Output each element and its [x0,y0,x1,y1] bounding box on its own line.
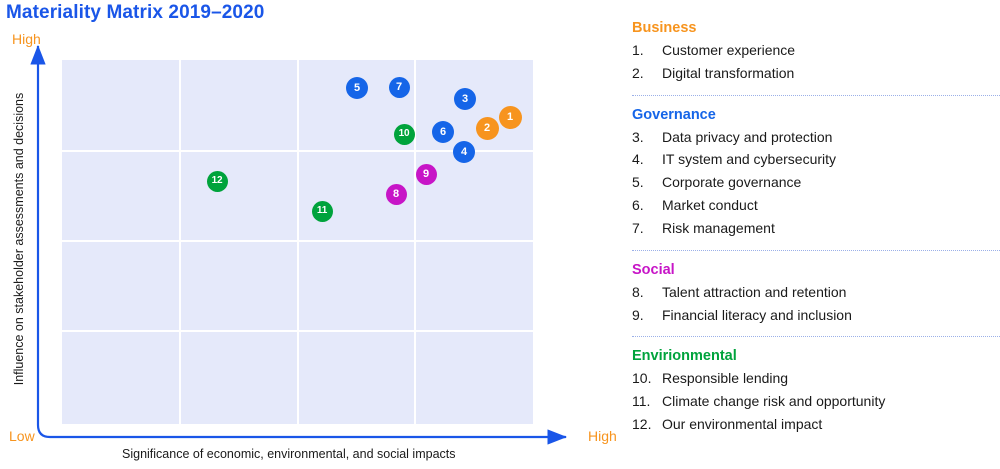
legend-heading-governance: Governance [632,107,1000,123]
legend-heading-social: Social [632,262,1000,278]
legend-item-label: Corporate governance [662,171,801,194]
legend-heading-envirionmental: Envirionmental [632,348,1000,364]
x-axis-title: Significance of economic, environmental,… [122,447,456,461]
y-axis-high-label: High [12,31,41,47]
data-point-4[interactable]: 4 [453,141,475,163]
legend-item-label: Customer experience [662,39,795,62]
legend-item-number: 9. [632,304,662,327]
data-point-10[interactable]: 10 [394,124,415,145]
data-point-7[interactable]: 7 [389,77,410,98]
data-point-3[interactable]: 3 [454,88,476,110]
legend-item-number: 1. [632,39,662,62]
legend-item-number: 8. [632,281,662,304]
data-point-6[interactable]: 6 [432,121,454,143]
legend-item[interactable]: 12.Our environmental impact [632,413,1000,436]
legend-item[interactable]: 6.Market conduct [632,194,1000,217]
legend-group-envirionmental: Envirionmental10.Responsible lending11.C… [632,348,1000,435]
gridline-horizontal-2 [62,240,533,242]
legend-item-label: Risk management [662,217,775,240]
gridline-vertical-2 [297,60,299,424]
legend-item-label: Our environmental impact [662,413,822,436]
plot-area [62,60,533,424]
data-point-11[interactable]: 11 [312,201,333,222]
legend-group-governance: Governance3.Data privacy and protection4… [632,107,1000,240]
legend-item-label: IT system and cybersecurity [662,148,836,171]
y-axis-low-label: Low [9,428,35,444]
legend-item-number: 12. [632,413,662,436]
legend-item[interactable]: 7.Risk management [632,217,1000,240]
legend-separator [632,336,1000,337]
legend-separator [632,95,1000,96]
gridline-vertical-1 [179,60,181,424]
legend-item-number: 5. [632,171,662,194]
legend-item[interactable]: 1.Customer experience [632,39,1000,62]
legend-item[interactable]: 11.Climate change risk and opportunity [632,390,1000,413]
legend-item[interactable]: 9.Financial literacy and inclusion [632,304,1000,327]
legend-item-label: Market conduct [662,194,758,217]
legend-item[interactable]: 2.Digital transformation [632,62,1000,85]
legend-item-label: Financial literacy and inclusion [662,304,852,327]
legend-item-label: Talent attraction and retention [662,281,846,304]
gridline-vertical-3 [414,60,416,424]
legend-item-number: 4. [632,148,662,171]
legend-item-label: Responsible lending [662,367,788,390]
data-point-8[interactable]: 8 [386,184,407,205]
legend-item-label: Digital transformation [662,62,794,85]
legend-item[interactable]: 4.IT system and cybersecurity [632,148,1000,171]
legend-item-number: 3. [632,126,662,149]
data-point-1[interactable]: 1 [499,106,522,129]
data-point-12[interactable]: 12 [207,171,228,192]
legend-item[interactable]: 10.Responsible lending [632,367,1000,390]
legend-item[interactable]: 5.Corporate governance [632,171,1000,194]
legend-item-number: 2. [632,62,662,85]
legend-heading-business: Business [632,20,1000,36]
x-axis-high-label: High [588,428,617,444]
legend-item-number: 7. [632,217,662,240]
y-axis-title: Influence on stakeholder assessments and… [12,74,26,404]
legend-item-label: Data privacy and protection [662,126,832,149]
legend-item-number: 11. [632,390,662,413]
legend-group-business: Business1.Customer experience2.Digital t… [632,20,1000,85]
legend-item[interactable]: 3.Data privacy and protection [632,126,1000,149]
materiality-matrix-chart: High Low High Influence on stakeholder a… [0,0,620,469]
gridline-horizontal-3 [62,330,533,332]
legend: Business1.Customer experience2.Digital t… [632,0,1000,469]
data-point-2[interactable]: 2 [476,117,499,140]
legend-item[interactable]: 8.Talent attraction and retention [632,281,1000,304]
legend-item-number: 10. [632,367,662,390]
legend-item-number: 6. [632,194,662,217]
legend-separator [632,250,1000,251]
legend-item-label: Climate change risk and opportunity [662,390,885,413]
legend-group-social: Social8.Talent attraction and retention9… [632,262,1000,327]
data-point-9[interactable]: 9 [416,164,437,185]
data-point-5[interactable]: 5 [346,77,368,99]
